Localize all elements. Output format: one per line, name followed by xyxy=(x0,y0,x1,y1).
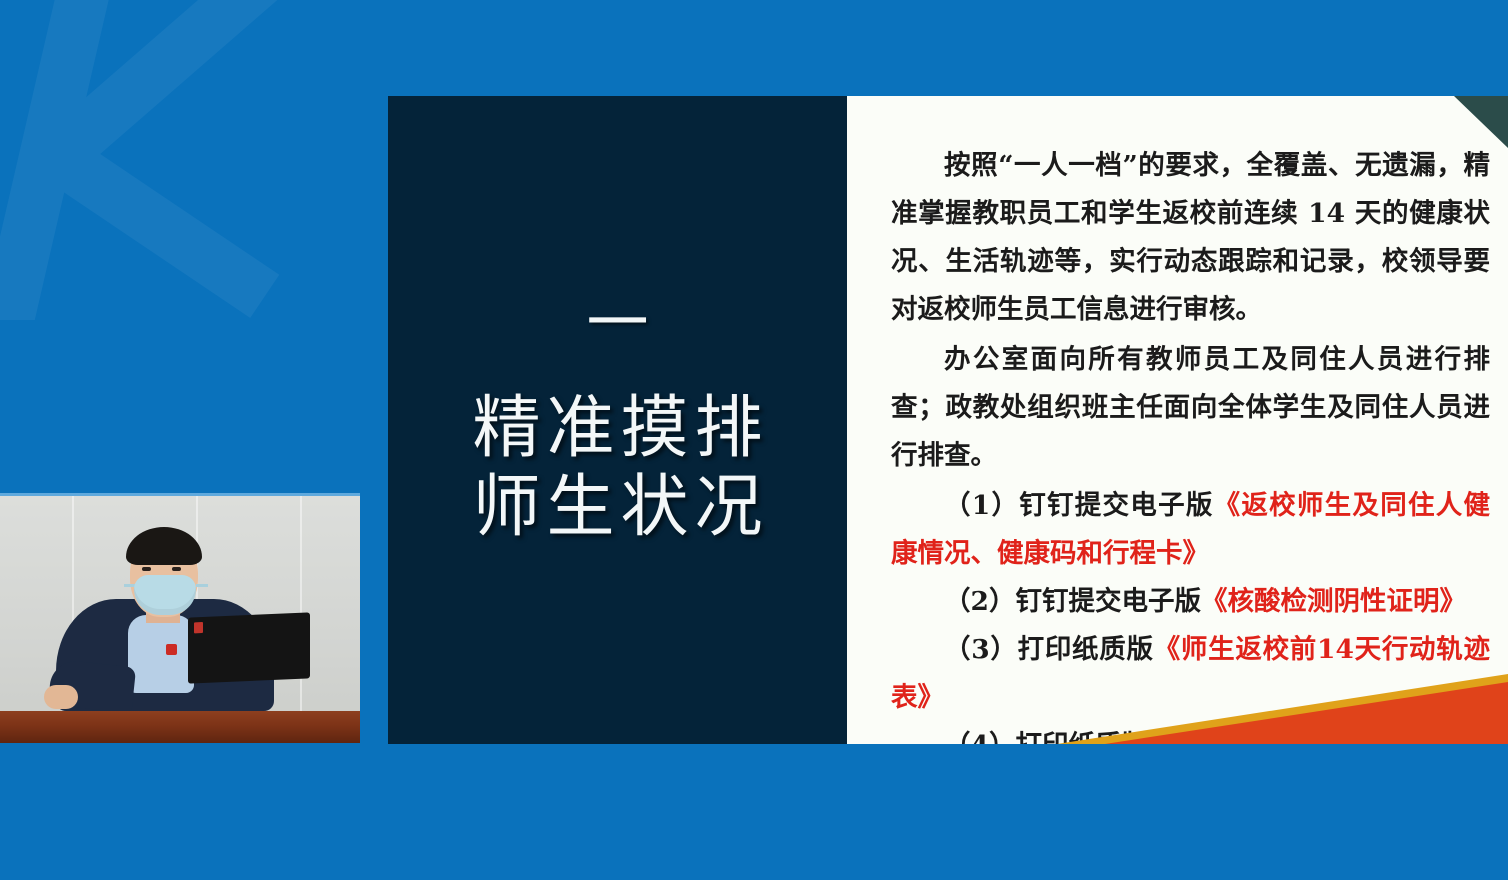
list-item-prefix: （1）钉钉提交电子版 xyxy=(944,490,1214,521)
slide: 一 精准摸排 师生状况 按照“一人一档”的要求，全覆盖、无遗漏，精准掌握教职员工… xyxy=(388,96,1508,744)
list-item-prefix: （3）打印纸质版 xyxy=(944,634,1154,665)
slide-title-panel: 一 精准摸排 师生状况 xyxy=(388,96,847,744)
list-item-prefix: （4）打印纸质版 xyxy=(944,730,1148,744)
slide-title-lines: 精准摸排 师生状况 xyxy=(466,390,768,548)
list-item: （4）打印纸质版《师生健康承诺书》 xyxy=(891,722,1490,744)
slide-title-line-2: 师生状况 xyxy=(466,469,768,548)
slide-body-content: 按照“一人一档”的要求，全覆盖、无遗漏，精准掌握教职员工和学生返校前连续 14 … xyxy=(891,142,1490,744)
video-scene xyxy=(0,496,360,743)
presentation-stage: 一 精准摸排 师生状况 按照“一人一档”的要求，全覆盖、无遗漏，精准掌握教职员工… xyxy=(0,0,1508,880)
corner-triangle-icon xyxy=(1454,96,1508,148)
background-watermark-icon xyxy=(0,0,320,390)
desk xyxy=(0,711,360,743)
speaker-video-overlay[interactable] xyxy=(0,493,360,743)
list-item: （1）钉钉提交电子版《返校师生及同住人健康情况、健康码和行程卡》 xyxy=(891,482,1490,578)
list-item: （3）打印纸质版《师生返校前14天行动轨迹表》 xyxy=(891,626,1490,722)
list-item-prefix: （2）钉钉提交电子版 xyxy=(944,586,1201,617)
laptop-icon xyxy=(188,612,310,683)
list-item: （2）钉钉提交电子版《核酸检测阴性证明》 xyxy=(891,578,1490,626)
list-item-document: 《核酸检测阴性证明》 xyxy=(1201,586,1466,617)
body-paragraph-2: 办公室面向所有教师员工及同住人员进行排查；政教处组织班主任面向全体学生及同住人员… xyxy=(891,336,1490,480)
slide-body-panel: 按照“一人一档”的要求，全覆盖、无遗漏，精准掌握教职员工和学生返校前连续 14 … xyxy=(847,96,1508,744)
speaker-figure xyxy=(50,511,280,711)
slide-section-numeral: 一 xyxy=(586,292,648,354)
slide-title-line-1: 精准摸排 xyxy=(466,390,768,469)
body-paragraph-1: 按照“一人一档”的要求，全覆盖、无遗漏，精准掌握教职员工和学生返校前连续 14 … xyxy=(891,142,1490,334)
list-item-document: 《师生健康承诺书》 xyxy=(1148,730,1387,744)
